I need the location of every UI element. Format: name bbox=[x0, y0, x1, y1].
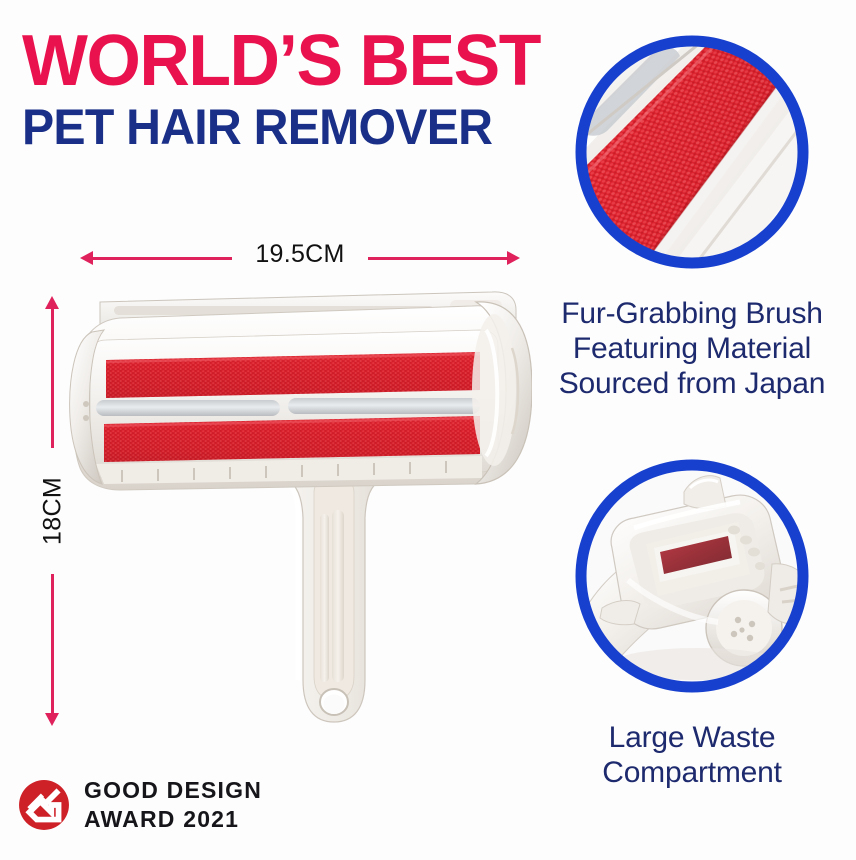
width-arrow-right-icon bbox=[507, 251, 520, 265]
feature-2-photo bbox=[568, 452, 816, 700]
handle-rib bbox=[320, 514, 329, 682]
feature-2-caption: Large Waste Compartment bbox=[602, 721, 782, 791]
feature-1-circle bbox=[568, 28, 816, 281]
feature-1-photo bbox=[568, 28, 816, 276]
feature-item-waste-compartment: Large Waste Compartment bbox=[528, 452, 856, 791]
height-line-bottom bbox=[51, 574, 54, 714]
height-line-top bbox=[51, 308, 54, 448]
waste-compartment-closeup-icon bbox=[568, 452, 816, 700]
height-arrow-bottom-icon bbox=[45, 713, 59, 726]
award-text-block: GOOD DESIGN AWARD 2021 bbox=[84, 776, 262, 835]
pet-hair-remover-illustration bbox=[62, 278, 532, 738]
product-infographic: WORLD’S BEST PET HAIR REMOVER 19.5CM 18C… bbox=[0, 0, 856, 860]
feature-2-caption-line-2: Compartment bbox=[602, 756, 782, 791]
roller-drum bbox=[90, 330, 498, 484]
product-image bbox=[62, 278, 532, 738]
feature-2-caption-line-1: Large Waste bbox=[602, 721, 782, 756]
feature-item-brush: Fur-Grabbing Brush Featuring Material So… bbox=[528, 28, 856, 401]
fur-grabbing-brush-closeup-icon bbox=[568, 28, 816, 276]
headline-line-2: PET HAIR REMOVER bbox=[22, 102, 505, 152]
award-line-1: GOOD DESIGN bbox=[84, 776, 262, 805]
headline-line-1: WORLD’S BEST bbox=[22, 28, 507, 96]
feature-1-caption-line-1: Fur-Grabbing Brush bbox=[559, 297, 826, 332]
good-design-award-badge: GOOD DESIGN AWARD 2021 bbox=[18, 776, 262, 835]
feature-panel: Fur-Grabbing Brush Featuring Material So… bbox=[528, 0, 856, 860]
width-line-right bbox=[368, 257, 508, 260]
width-line-left bbox=[92, 257, 232, 260]
roller-slot-right bbox=[288, 398, 480, 414]
width-dimension: 19.5CM bbox=[80, 240, 520, 278]
feature-1-caption-line-2: Featuring Material bbox=[559, 332, 826, 367]
width-dimension-label: 19.5CM bbox=[245, 240, 354, 269]
headline-block: WORLD’S BEST PET HAIR REMOVER bbox=[22, 28, 522, 152]
award-line-2: AWARD 2021 bbox=[84, 805, 262, 834]
feature-2-circle bbox=[568, 452, 816, 705]
handle-rib bbox=[332, 510, 344, 682]
good-design-award-g-mark-icon bbox=[18, 779, 70, 831]
roller-slot-left bbox=[96, 400, 280, 416]
feature-1-caption: Fur-Grabbing Brush Featuring Material So… bbox=[559, 297, 826, 401]
feature-1-caption-line-3: Sourced from Japan bbox=[559, 367, 826, 402]
